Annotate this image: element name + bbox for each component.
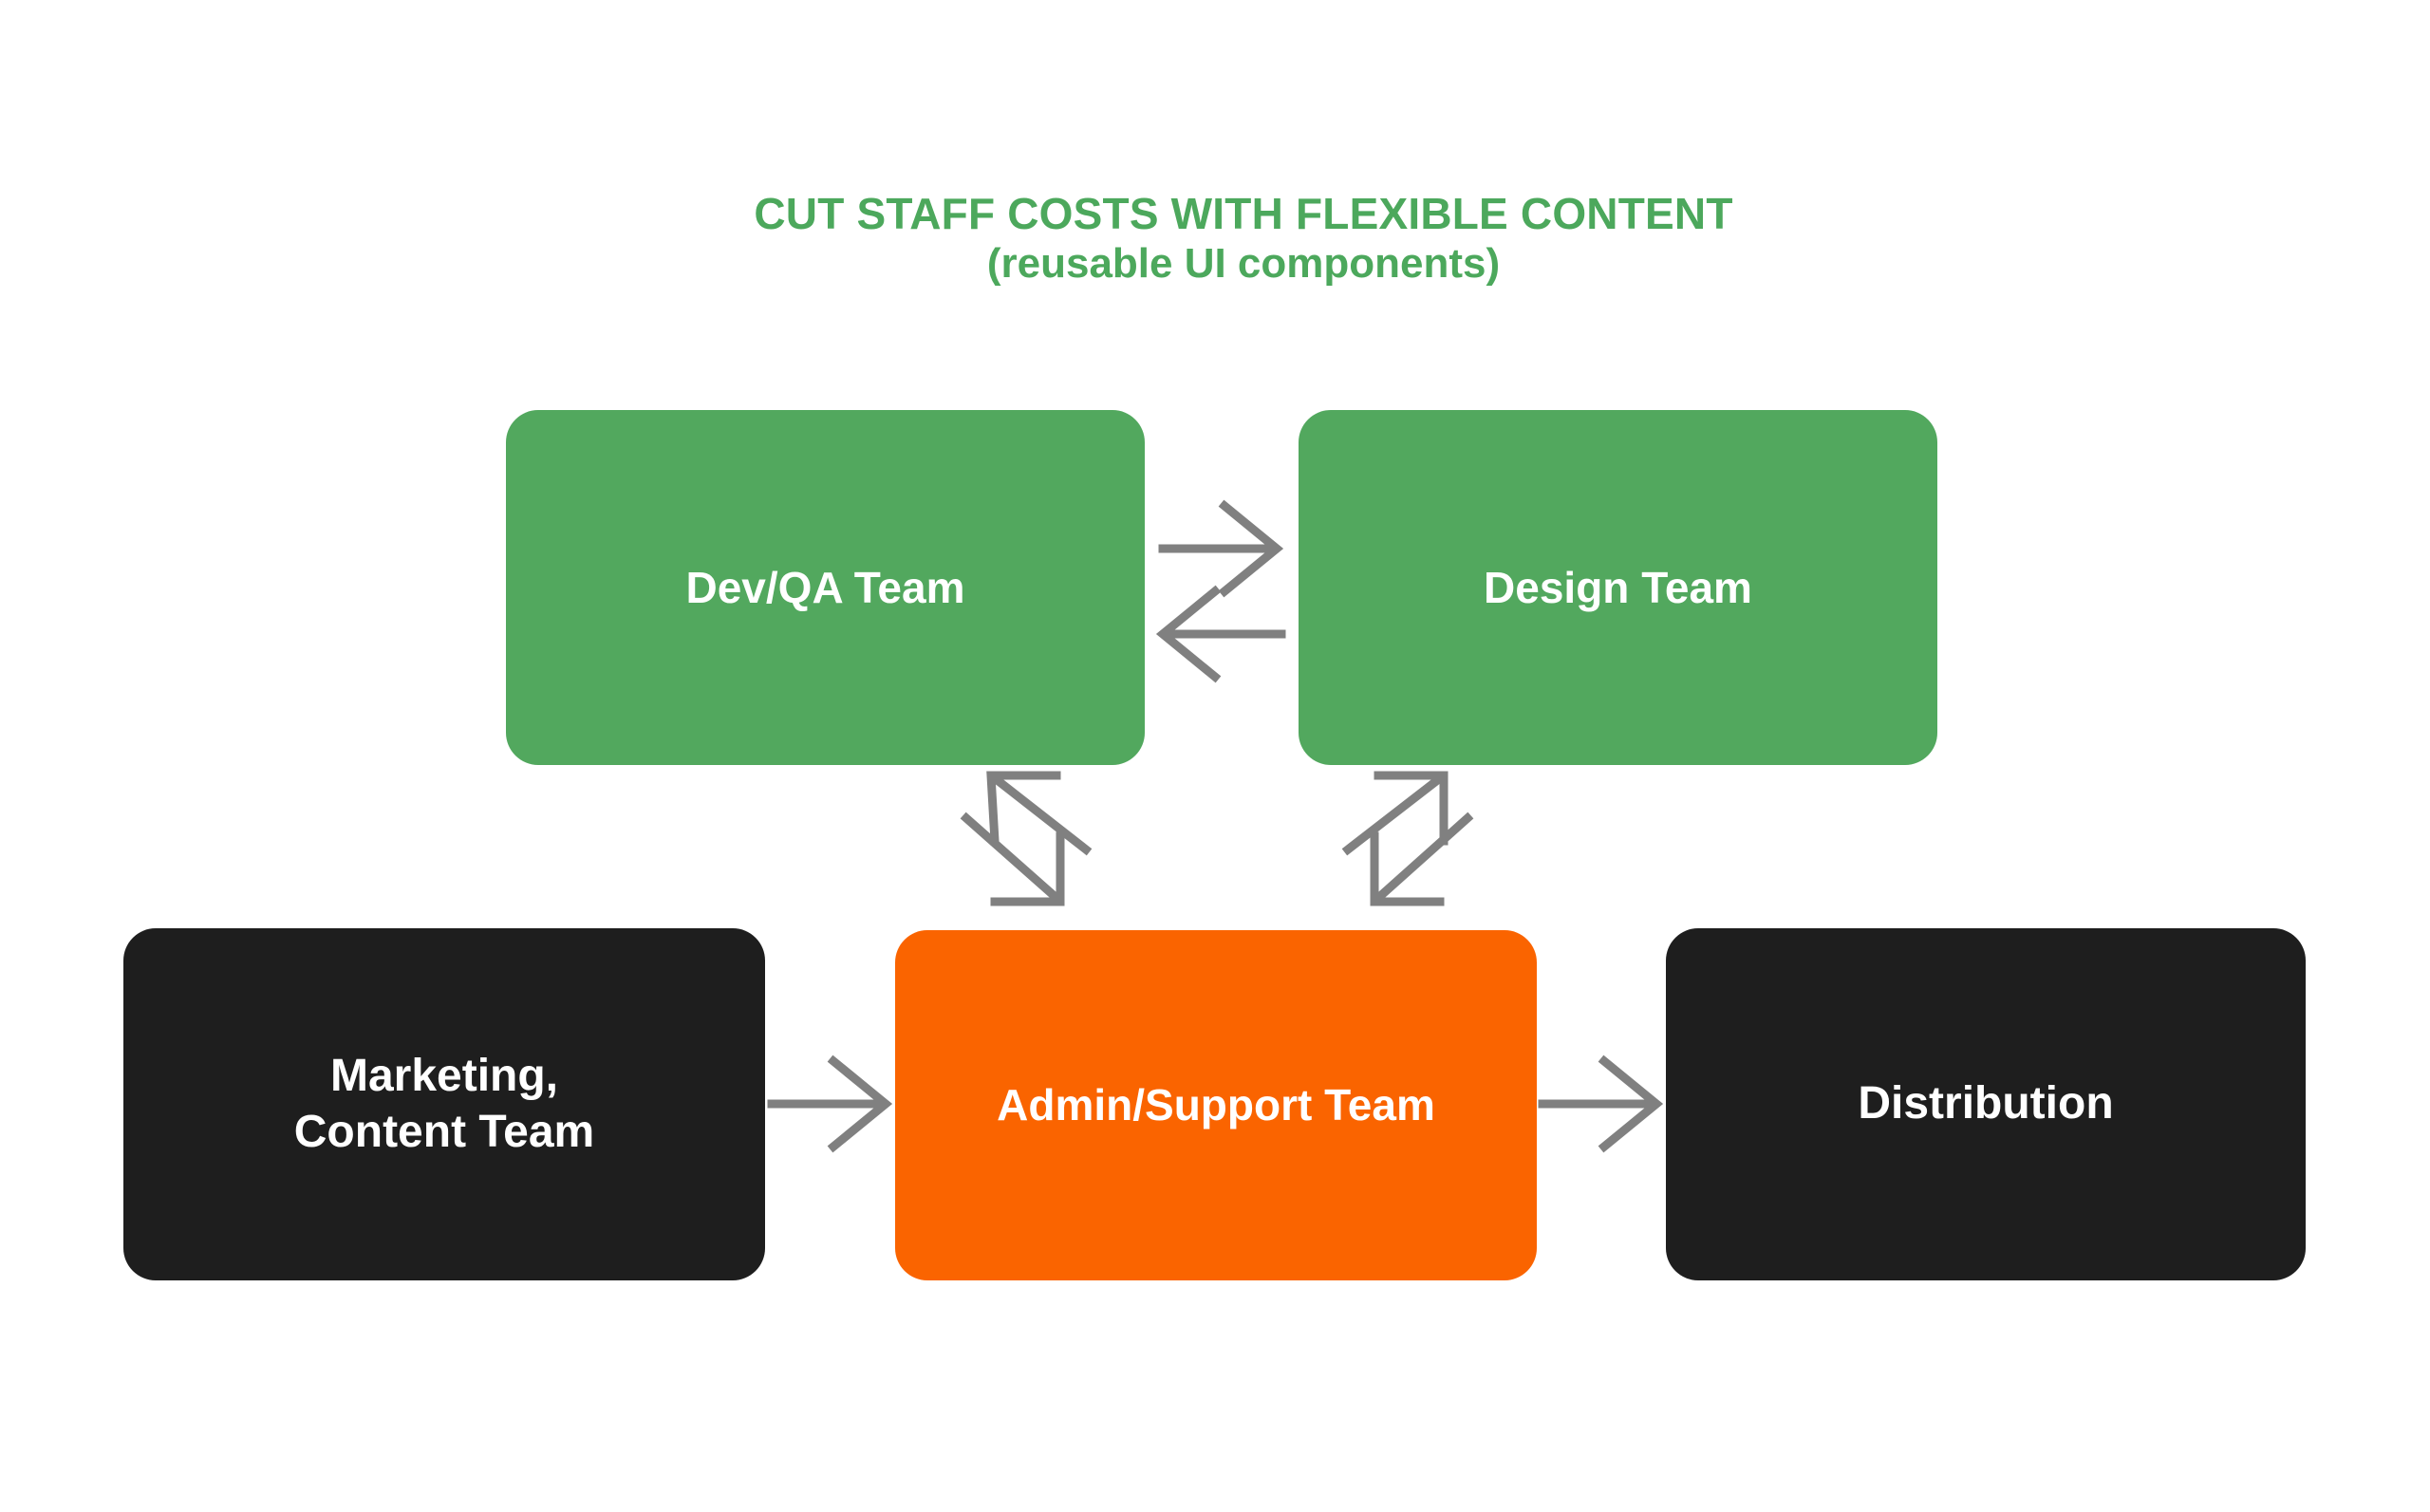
node-label-distribution: Distribution xyxy=(1858,1076,2113,1132)
node-dev-qa-team[interactable]: Dev/QA Team xyxy=(506,410,1145,765)
connector-design-to-devqa xyxy=(1163,591,1281,677)
diagram-title: CUT STAFF COSTS WITH FLEXIBLE CONTENT (r… xyxy=(0,188,2430,289)
connector-admin-to-distribution xyxy=(1542,1061,1656,1147)
node-label-marketing-content-team: Marketing, Content Team xyxy=(294,1049,594,1160)
connector-admin-to-design xyxy=(1348,775,1444,849)
node-distribution[interactable]: Distribution xyxy=(1666,928,2306,1280)
title-line-secondary: (reusable UI components) xyxy=(0,239,2430,289)
connector-devqa-to-admin xyxy=(966,818,1060,902)
node-label-design-team: Design Team xyxy=(1484,561,1752,614)
node-marketing-content-team[interactable]: Marketing, Content Team xyxy=(123,928,765,1280)
connector-marketing-to-admin xyxy=(772,1061,886,1147)
connector-devqa-to-design xyxy=(1163,506,1277,591)
node-label-admin-support-team: Admin/Support Team xyxy=(997,1078,1435,1131)
node-design-team[interactable]: Design Team xyxy=(1299,410,1937,765)
node-admin-support-team[interactable]: Admin/Support Team xyxy=(895,930,1537,1280)
node-label-dev-qa-team: Dev/QA Team xyxy=(686,561,965,614)
diagram-canvas: CUT STAFF COSTS WITH FLEXIBLE CONTENT (r… xyxy=(0,0,2430,1512)
connector-design-to-admin xyxy=(1374,818,1467,902)
connector-admin-to-devqa xyxy=(991,775,1086,849)
title-line-primary: CUT STAFF COSTS WITH FLEXIBLE CONTENT xyxy=(0,188,2430,239)
